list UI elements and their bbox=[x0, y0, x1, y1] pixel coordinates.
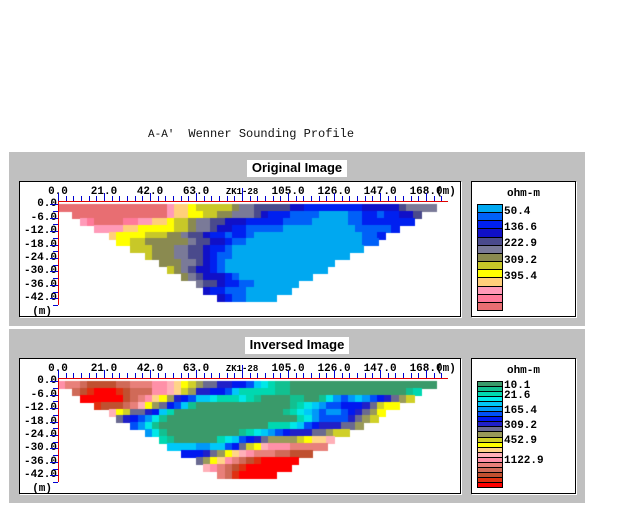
x-axis-tick bbox=[372, 373, 373, 378]
legend-swatch bbox=[478, 295, 502, 303]
x-axis-tick bbox=[234, 196, 235, 201]
x-axis-tick bbox=[311, 373, 312, 378]
legend-original: ohm-m 50.4136.6222.9309.2395.4 bbox=[471, 181, 576, 317]
plot-original-image[interactable]: 0.021.042.063.0105.0126.0147.0168.0(m)ZK… bbox=[19, 181, 461, 317]
legend-colorbar-original bbox=[477, 204, 503, 311]
x-axis-tick bbox=[441, 373, 442, 378]
x-axis-tick bbox=[219, 373, 220, 378]
panel-original-title: Original Image bbox=[10, 159, 584, 177]
x-axis-labels-inversed: 0.021.042.063.0105.0126.0147.0168.0(m)ZK… bbox=[20, 363, 460, 377]
x-axis-tick bbox=[250, 373, 251, 378]
x-axis-tick bbox=[66, 373, 67, 378]
x-axis-tick bbox=[265, 196, 266, 201]
x-axis-tick bbox=[288, 193, 289, 201]
panel-original-image: Original Image 0.021.042.063.0105.0126.0… bbox=[9, 152, 585, 326]
x-axis-tick bbox=[303, 373, 304, 378]
x-axis-tick bbox=[349, 196, 350, 201]
x-axis-tick bbox=[227, 196, 228, 201]
y-axis-tick bbox=[53, 455, 58, 456]
x-axis-tick bbox=[319, 373, 320, 378]
x-axis-tick bbox=[257, 196, 258, 201]
x-axis-tick bbox=[150, 193, 151, 201]
x-axis-line bbox=[58, 378, 448, 379]
legend-swatch bbox=[478, 205, 502, 213]
legend-label: 165.4 bbox=[504, 405, 537, 417]
panel-inversed-title: Inversed Image bbox=[10, 336, 584, 354]
x-axis-tick bbox=[81, 196, 82, 201]
x-axis-tick bbox=[257, 373, 258, 378]
x-axis-tick bbox=[372, 196, 373, 201]
legend-labels-original: 50.4136.6222.9309.2395.4 bbox=[504, 204, 572, 309]
x-axis-tick bbox=[73, 196, 74, 201]
x-axis-tick bbox=[142, 373, 143, 378]
x-axis-tick bbox=[150, 370, 151, 378]
x-axis-tick bbox=[395, 373, 396, 378]
x-axis-tick bbox=[89, 373, 90, 378]
y-axis-tick bbox=[50, 475, 58, 476]
legend-unit-inversed: ohm-m bbox=[472, 365, 575, 377]
x-axis-tick bbox=[204, 196, 205, 201]
x-axis-unit: (m) bbox=[436, 363, 456, 375]
legend-colorbar-inversed bbox=[477, 381, 503, 488]
x-axis-tick bbox=[142, 196, 143, 201]
legend-swatch bbox=[478, 303, 502, 310]
x-axis-tick bbox=[418, 373, 419, 378]
profile-name-label: Wenner Sounding Profile bbox=[188, 127, 354, 141]
y-axis-tick bbox=[53, 401, 58, 402]
resistivity-profile-page: A-A'Wenner Sounding Profile Original Ima… bbox=[0, 0, 628, 508]
y-axis-labels-inversed: 0.0-6.0-12.0-18.0-24.0-30.0-36.0-42.0(m) bbox=[20, 359, 58, 493]
x-axis-tick bbox=[227, 373, 228, 378]
x-axis-tick bbox=[273, 196, 274, 201]
x-axis-tick bbox=[211, 196, 212, 201]
legend-inversed: ohm-m 10.121.6165.4309.2452.91122.9 bbox=[471, 358, 576, 494]
x-axis-tick bbox=[104, 193, 105, 201]
x-axis-tick bbox=[158, 196, 159, 201]
x-axis-tick bbox=[89, 196, 90, 201]
x-axis-tick bbox=[112, 196, 113, 201]
panel-inversed-image: Inversed Image 0.021.042.063.0105.0126.0… bbox=[9, 329, 585, 503]
legend-swatch bbox=[478, 213, 502, 221]
legend-swatch bbox=[478, 262, 502, 270]
page-title: A-A'Wenner Sounding Profile bbox=[148, 127, 354, 141]
x-axis-tick bbox=[311, 196, 312, 201]
y-axis-tick bbox=[50, 285, 58, 286]
x-axis-tick bbox=[288, 370, 289, 378]
y-axis-tick bbox=[53, 251, 58, 252]
x-axis-tick bbox=[418, 196, 419, 201]
x-axis-tick bbox=[357, 196, 358, 201]
x-axis-tick bbox=[365, 196, 366, 201]
x-axis-tick bbox=[296, 373, 297, 378]
legend-swatch bbox=[478, 270, 502, 278]
legend-swatch bbox=[478, 483, 502, 487]
legend-label: 21.6 bbox=[504, 390, 530, 402]
legend-swatch bbox=[478, 254, 502, 262]
x-axis-tick bbox=[395, 196, 396, 201]
x-axis-tick bbox=[204, 373, 205, 378]
x-axis-tick bbox=[181, 196, 182, 201]
x-axis-tick bbox=[273, 373, 274, 378]
borehole-tick bbox=[242, 188, 243, 201]
legend-swatch bbox=[478, 278, 502, 286]
legend-label: 50.4 bbox=[504, 206, 530, 218]
y-axis-tick bbox=[50, 435, 58, 436]
x-axis-tick bbox=[334, 370, 335, 378]
y-axis-tick bbox=[50, 448, 58, 449]
x-axis-tick bbox=[135, 196, 136, 201]
legend-swatch bbox=[478, 238, 502, 246]
legend-label: 309.2 bbox=[504, 255, 537, 267]
axis-frame-original bbox=[58, 201, 448, 305]
x-axis-tick bbox=[426, 193, 427, 201]
x-axis-tick bbox=[112, 373, 113, 378]
y-axis-tick bbox=[53, 482, 58, 483]
x-axis-tick bbox=[66, 196, 67, 201]
y-axis-tick bbox=[53, 211, 58, 212]
plot-inversed-image[interactable]: 0.021.042.063.0105.0126.0147.0168.0(m)ZK… bbox=[19, 358, 461, 494]
x-axis-tick bbox=[173, 373, 174, 378]
x-axis-tick bbox=[326, 196, 327, 201]
y-axis-tick bbox=[50, 218, 58, 219]
legend-unit-original: ohm-m bbox=[472, 188, 575, 200]
y-axis-tick bbox=[53, 265, 58, 266]
y-axis-tick bbox=[53, 305, 58, 306]
y-axis-tick bbox=[50, 462, 58, 463]
y-axis-tick bbox=[53, 238, 58, 239]
y-axis-unit: (m) bbox=[32, 306, 52, 317]
x-axis-tick bbox=[234, 373, 235, 378]
x-axis-tick bbox=[296, 196, 297, 201]
x-axis-tick bbox=[188, 196, 189, 201]
x-axis-tick bbox=[319, 196, 320, 201]
legend-swatch bbox=[478, 287, 502, 295]
x-axis-tick bbox=[96, 373, 97, 378]
axis-frame-inversed bbox=[58, 378, 448, 482]
x-axis-tick bbox=[280, 373, 281, 378]
x-axis-tick bbox=[219, 196, 220, 201]
x-axis-tick bbox=[250, 196, 251, 201]
x-axis-line bbox=[58, 201, 448, 202]
pseudosection-inversed bbox=[58, 378, 448, 482]
pseudosection-original bbox=[58, 201, 448, 305]
y-axis-labels-original: 0.0-6.0-12.0-18.0-24.0-30.0-36.0-42.0(m) bbox=[20, 182, 58, 316]
x-axis-tick bbox=[127, 373, 128, 378]
x-axis-tick bbox=[104, 370, 105, 378]
x-axis-tick bbox=[441, 196, 442, 201]
y-axis-tick bbox=[53, 388, 58, 389]
y-axis-tick bbox=[53, 415, 58, 416]
legend-swatch bbox=[478, 221, 502, 229]
x-axis-tick bbox=[426, 370, 427, 378]
x-axis-tick bbox=[388, 373, 389, 378]
x-axis-tick bbox=[434, 196, 435, 201]
y-axis-tick bbox=[50, 245, 58, 246]
x-axis-tick bbox=[326, 373, 327, 378]
x-axis-tick bbox=[58, 370, 59, 378]
x-axis-tick bbox=[119, 196, 120, 201]
legend-label: 309.2 bbox=[504, 420, 537, 432]
y-axis-tick bbox=[50, 204, 58, 205]
x-axis-tick bbox=[211, 373, 212, 378]
x-axis-tick bbox=[196, 193, 197, 201]
x-axis-tick bbox=[357, 373, 358, 378]
x-axis-tick bbox=[181, 373, 182, 378]
y-axis-unit: (m) bbox=[32, 483, 52, 494]
x-axis-tick bbox=[188, 373, 189, 378]
x-axis-tick bbox=[73, 373, 74, 378]
legend-labels-inversed: 10.121.6165.4309.2452.91122.9 bbox=[504, 381, 572, 486]
y-axis-tick bbox=[53, 428, 58, 429]
y-axis-tick bbox=[50, 231, 58, 232]
x-axis-tick bbox=[58, 193, 59, 201]
legend-label: 395.4 bbox=[504, 271, 537, 283]
x-axis-tick bbox=[380, 370, 381, 378]
x-axis-tick bbox=[434, 373, 435, 378]
y-axis-tick bbox=[50, 258, 58, 259]
x-axis-tick bbox=[342, 373, 343, 378]
x-axis-labels-original: 0.021.042.063.0105.0126.0147.0168.0(m)ZK… bbox=[20, 186, 460, 200]
x-axis-tick bbox=[196, 370, 197, 378]
y-axis-line bbox=[58, 378, 59, 482]
x-axis-tick bbox=[403, 196, 404, 201]
section-id-label: A-A' bbox=[148, 129, 174, 141]
x-axis-tick bbox=[349, 373, 350, 378]
legend-label: 136.6 bbox=[504, 222, 537, 234]
legend-swatch bbox=[478, 229, 502, 237]
x-axis-tick bbox=[173, 196, 174, 201]
x-axis-tick bbox=[342, 196, 343, 201]
borehole-tick bbox=[242, 365, 243, 378]
legend-label: 222.9 bbox=[504, 238, 537, 250]
y-axis-tick bbox=[53, 292, 58, 293]
x-axis-tick bbox=[265, 373, 266, 378]
y-axis-tick bbox=[50, 422, 58, 423]
x-axis-tick bbox=[280, 196, 281, 201]
x-axis-unit: (m) bbox=[436, 186, 456, 198]
y-axis-tick bbox=[50, 395, 58, 396]
x-axis-tick bbox=[365, 373, 366, 378]
legend-label: 1122.9 bbox=[504, 455, 544, 467]
y-axis-tick bbox=[50, 271, 58, 272]
x-axis-tick bbox=[388, 196, 389, 201]
x-axis-tick bbox=[411, 196, 412, 201]
x-axis-tick bbox=[158, 373, 159, 378]
x-axis-tick bbox=[380, 193, 381, 201]
x-axis-tick bbox=[334, 193, 335, 201]
x-axis-tick bbox=[135, 373, 136, 378]
y-axis-tick bbox=[53, 469, 58, 470]
y-axis-tick bbox=[53, 278, 58, 279]
x-axis-tick bbox=[403, 373, 404, 378]
x-axis-tick bbox=[165, 373, 166, 378]
x-axis-tick bbox=[127, 196, 128, 201]
x-axis-tick bbox=[411, 373, 412, 378]
y-axis-tick bbox=[53, 224, 58, 225]
x-axis-tick bbox=[165, 196, 166, 201]
x-axis-tick bbox=[96, 196, 97, 201]
y-axis-tick bbox=[53, 442, 58, 443]
legend-swatch bbox=[478, 246, 502, 254]
x-axis-tick bbox=[81, 373, 82, 378]
x-axis-tick bbox=[119, 373, 120, 378]
legend-label: 452.9 bbox=[504, 435, 537, 447]
y-axis-line bbox=[58, 201, 59, 305]
y-axis-tick bbox=[50, 408, 58, 409]
y-axis-tick bbox=[50, 298, 58, 299]
x-axis-tick bbox=[303, 196, 304, 201]
y-axis-tick bbox=[50, 381, 58, 382]
